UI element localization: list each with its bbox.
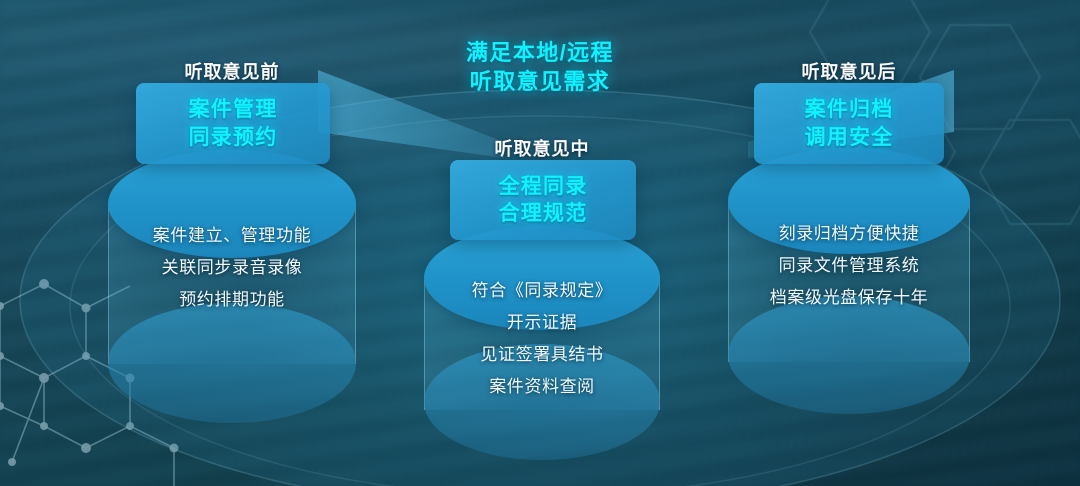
header-card-line1-during: 全程同录 bbox=[499, 173, 588, 200]
header-card-line2-before: 同录预约 bbox=[189, 124, 278, 151]
list-item: 符合《同录规定》 bbox=[424, 282, 660, 299]
list-item: 档案级光盘保存十年 bbox=[728, 289, 970, 306]
header-card-before[interactable]: 案件管理 同录预约 bbox=[136, 83, 330, 164]
list-item: 同录文件管理系统 bbox=[728, 257, 970, 274]
list-item: 见证签署具结书 bbox=[424, 346, 660, 363]
list-item: 案件建立、管理功能 bbox=[108, 227, 356, 244]
header-card-line2-during: 合理规范 bbox=[499, 200, 588, 227]
column-kicker-after: 听取意见后 bbox=[728, 58, 970, 84]
column-kicker-before: 听取意见前 bbox=[108, 58, 356, 84]
infographic-slide: 满足本地/远程 听取意见需求 听取意见前 案件管理 同录预约 案件建立、管理功能… bbox=[0, 0, 1080, 486]
header-card-line1-before: 案件管理 bbox=[189, 96, 278, 123]
column-after: 听取意见后 案件归档 调用安全 刻录归档方便快捷 同录文件管理系统 档案级光盘保… bbox=[728, 50, 970, 400]
column-before: 听取意见前 案件管理 同录预约 案件建立、管理功能 关联同步录音录像 预约排期功… bbox=[108, 50, 356, 400]
list-item: 关联同步录音录像 bbox=[108, 259, 356, 276]
list-item: 预约排期功能 bbox=[108, 291, 356, 308]
header-card-after[interactable]: 案件归档 调用安全 bbox=[754, 83, 944, 164]
header-card-during[interactable]: 全程同录 合理规范 bbox=[450, 160, 636, 240]
column-items-after: 刻录归档方便快捷 同录文件管理系统 档案级光盘保存十年 bbox=[728, 225, 970, 321]
column-items-before: 案件建立、管理功能 关联同步录音录像 预约排期功能 bbox=[108, 227, 356, 323]
column-during: 听取意见中 全程同录 合理规范 符合《同录规定》 开示证据 见证签署具结书 案件… bbox=[424, 130, 660, 430]
list-item: 刻录归档方便快捷 bbox=[728, 225, 970, 242]
column-kicker-during: 听取意见中 bbox=[424, 135, 660, 161]
column-items-during: 符合《同录规定》 开示证据 见证签署具结书 案件资料查阅 bbox=[424, 282, 660, 410]
header-card-line1-after: 案件归档 bbox=[805, 96, 894, 123]
header-card-line2-after: 调用安全 bbox=[805, 124, 894, 151]
list-item: 开示证据 bbox=[424, 314, 660, 331]
list-item: 案件资料查阅 bbox=[424, 378, 660, 395]
